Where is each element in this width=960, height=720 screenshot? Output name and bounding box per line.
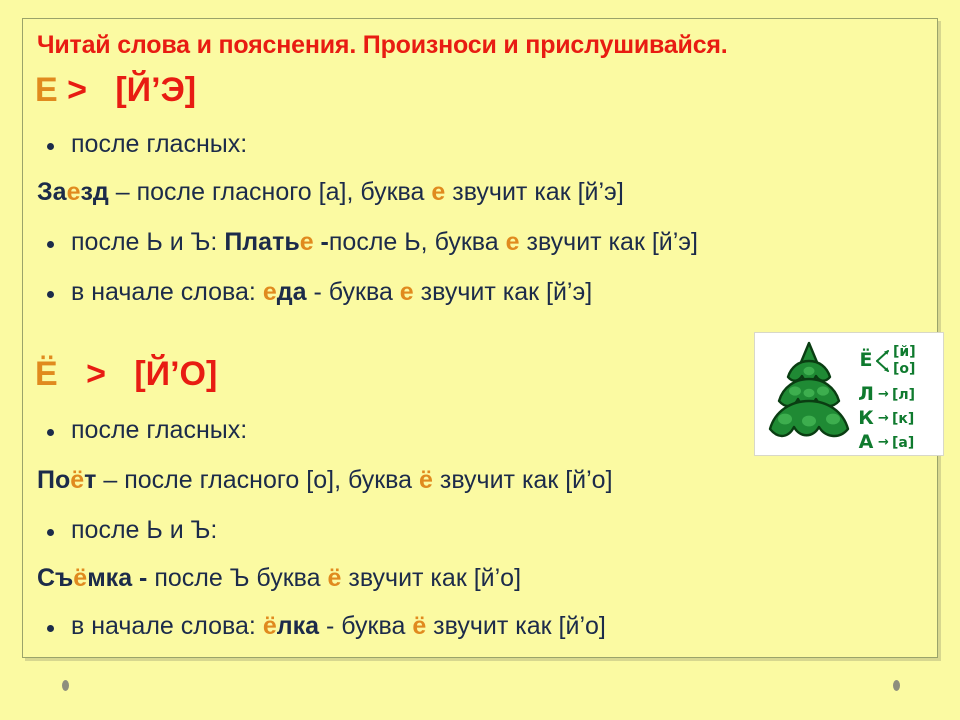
yolka-letter-glyph: Л [857,385,875,404]
bullet-icon [47,241,54,248]
text-run: е [300,228,314,256]
arrow-right-icon: → [875,387,892,402]
heading-yo-phonetic: [Й’О] [134,355,217,393]
text-run: мка - [87,564,147,592]
rule-yo-3: Съёмка - после Ъ буква ё звучит как [й’о… [37,565,521,591]
yolka-row-a: А → [а] [857,433,914,452]
bullet-icon [47,143,54,150]
text-run: звучит как [й’о] [426,612,606,640]
rule-e-2-text: после Ь и Ъ: Платье -после Ь, буква е зв… [71,228,698,256]
fir-tree-icon [761,337,857,453]
text-run: звучит как [й’э] [445,178,623,206]
text-run: е [506,228,520,256]
text-run: да [277,278,307,306]
text-run: после гласных: [71,130,247,158]
heading-letter-yo: Ё > [Й’О] [35,357,217,391]
text-run: после Ь и Ъ: [71,516,217,544]
rule-e-3-text: в начале слова: еда - буква е звучит как… [71,278,592,306]
yolka-letter-glyph: Ё [857,351,875,370]
double-arrow-icon [875,346,893,376]
rule-yo-1: Поёт – после гласного [о], буква ё звучи… [37,467,613,493]
text-run: лка [277,612,319,640]
text-run: ё [419,466,433,494]
rule-e-2: после Ь и Ъ: Платье -после Ь, буква е зв… [37,229,698,255]
text-run: – после гласного [о], буква [96,466,419,494]
yolka-row-yo: Ё [й] [о] [857,345,916,376]
bullet-icon [47,429,54,436]
yolka-phonetic-o: [о] [893,362,916,376]
rule-e-0-text: после гласных: [71,130,247,158]
page-title: Читай слова и пояснения. Произноси и при… [37,31,728,60]
text-run: после Ь, буква [329,228,506,256]
text-run: после гласных: [71,416,247,444]
arrow-right-icon: → [875,435,892,450]
text-run: – после гласного [а], буква [109,178,432,206]
yolka-phonetic-a: [а] [892,436,914,450]
heading-yo-letter: Ё [35,355,58,393]
text-run: е [263,278,277,306]
yolka-phonetic-k: [к] [892,412,914,426]
text-run: в начале слова: [71,278,263,306]
text-run: е [67,178,81,206]
rule-e-0: после гласных: [37,131,247,157]
rule-yo-3-text: Съёмка - после Ъ буква ё звучит как [й’о… [37,564,521,592]
text-run: ё [263,612,277,640]
heading-e-arrow: > [67,71,87,109]
text-run: после Ь и Ъ: [71,228,224,256]
text-run: звучит как [й’о] [433,466,613,494]
heading-letter-e: Е > [Й’Э] [35,73,196,107]
rule-yo-4-text: в начале слова: ёлка - буква ё звучит ка… [71,612,606,640]
bullet-icon [47,291,54,298]
text-run: в начале слова: [71,612,263,640]
yolka-row-l: Л → [л] [857,385,915,404]
rule-yo-1-text: Поёт – после гласного [о], буква ё звучи… [37,466,613,494]
arrow-right-icon: → [875,411,892,426]
yolka-phonetic-y: [й] [893,345,916,359]
yolka-row-k: К → [к] [857,409,914,428]
text-run: ё [412,612,426,640]
rule-e-1-text: Заезд – после гласного [а], буква е звуч… [37,178,624,206]
text-run: За [37,178,67,206]
heading-yo-arrow: > [86,355,106,393]
text-run: е [431,178,445,206]
text-run: после Ъ буква [147,564,327,592]
rule-e-1: Заезд – после гласного [а], буква е звуч… [37,179,624,205]
rule-yo-0-text: после гласных: [71,416,247,444]
text-run: Съ [37,564,73,592]
text-run: ё [73,564,87,592]
text-run: - буква [307,278,400,306]
rule-e-3: в начале слова: еда - буква е звучит как… [37,279,592,305]
yolka-phonetic-l: [л] [892,388,915,402]
text-run: зд [80,178,108,206]
text-run: - [314,228,329,256]
text-run: - буква [319,612,412,640]
text-run: звучит как [й’э] [414,278,592,306]
slide-root: Читай слова и пояснения. Произноси и при… [0,0,960,720]
yolka-letter-column: Ё [й] [о] Л → [л [857,339,944,455]
text-run: ё [70,466,84,494]
bullet-icon [47,529,54,536]
heading-e-phonetic: [Й’Э] [115,71,196,109]
decor-dot-left [62,680,69,691]
bullet-icon [47,625,54,632]
text-run: ё [328,564,342,592]
rule-yo-2: после Ь и Ъ: [37,517,217,543]
yolka-letter-glyph: К [857,409,875,428]
yolka-letter-glyph: А [857,433,875,452]
text-run: е [400,278,414,306]
text-run: звучит как [й’о] [341,564,521,592]
text-run: По [37,466,70,494]
text-run: т [84,466,96,494]
text-run: звучит как [й’э] [520,228,698,256]
picture-inner: Ё [й] [о] Л → [л [759,337,939,451]
text-run: Плать [224,228,299,256]
fir-tree-picture: Ё [й] [о] Л → [л [754,332,944,456]
rule-yo-0: после гласных: [37,417,247,443]
rule-yo-4: в начале слова: ёлка - буква ё звучит ка… [37,613,606,639]
rule-yo-2-text: после Ь и Ъ: [71,516,217,544]
decor-dot-right [893,680,900,691]
heading-e-letter: Е [35,71,58,109]
